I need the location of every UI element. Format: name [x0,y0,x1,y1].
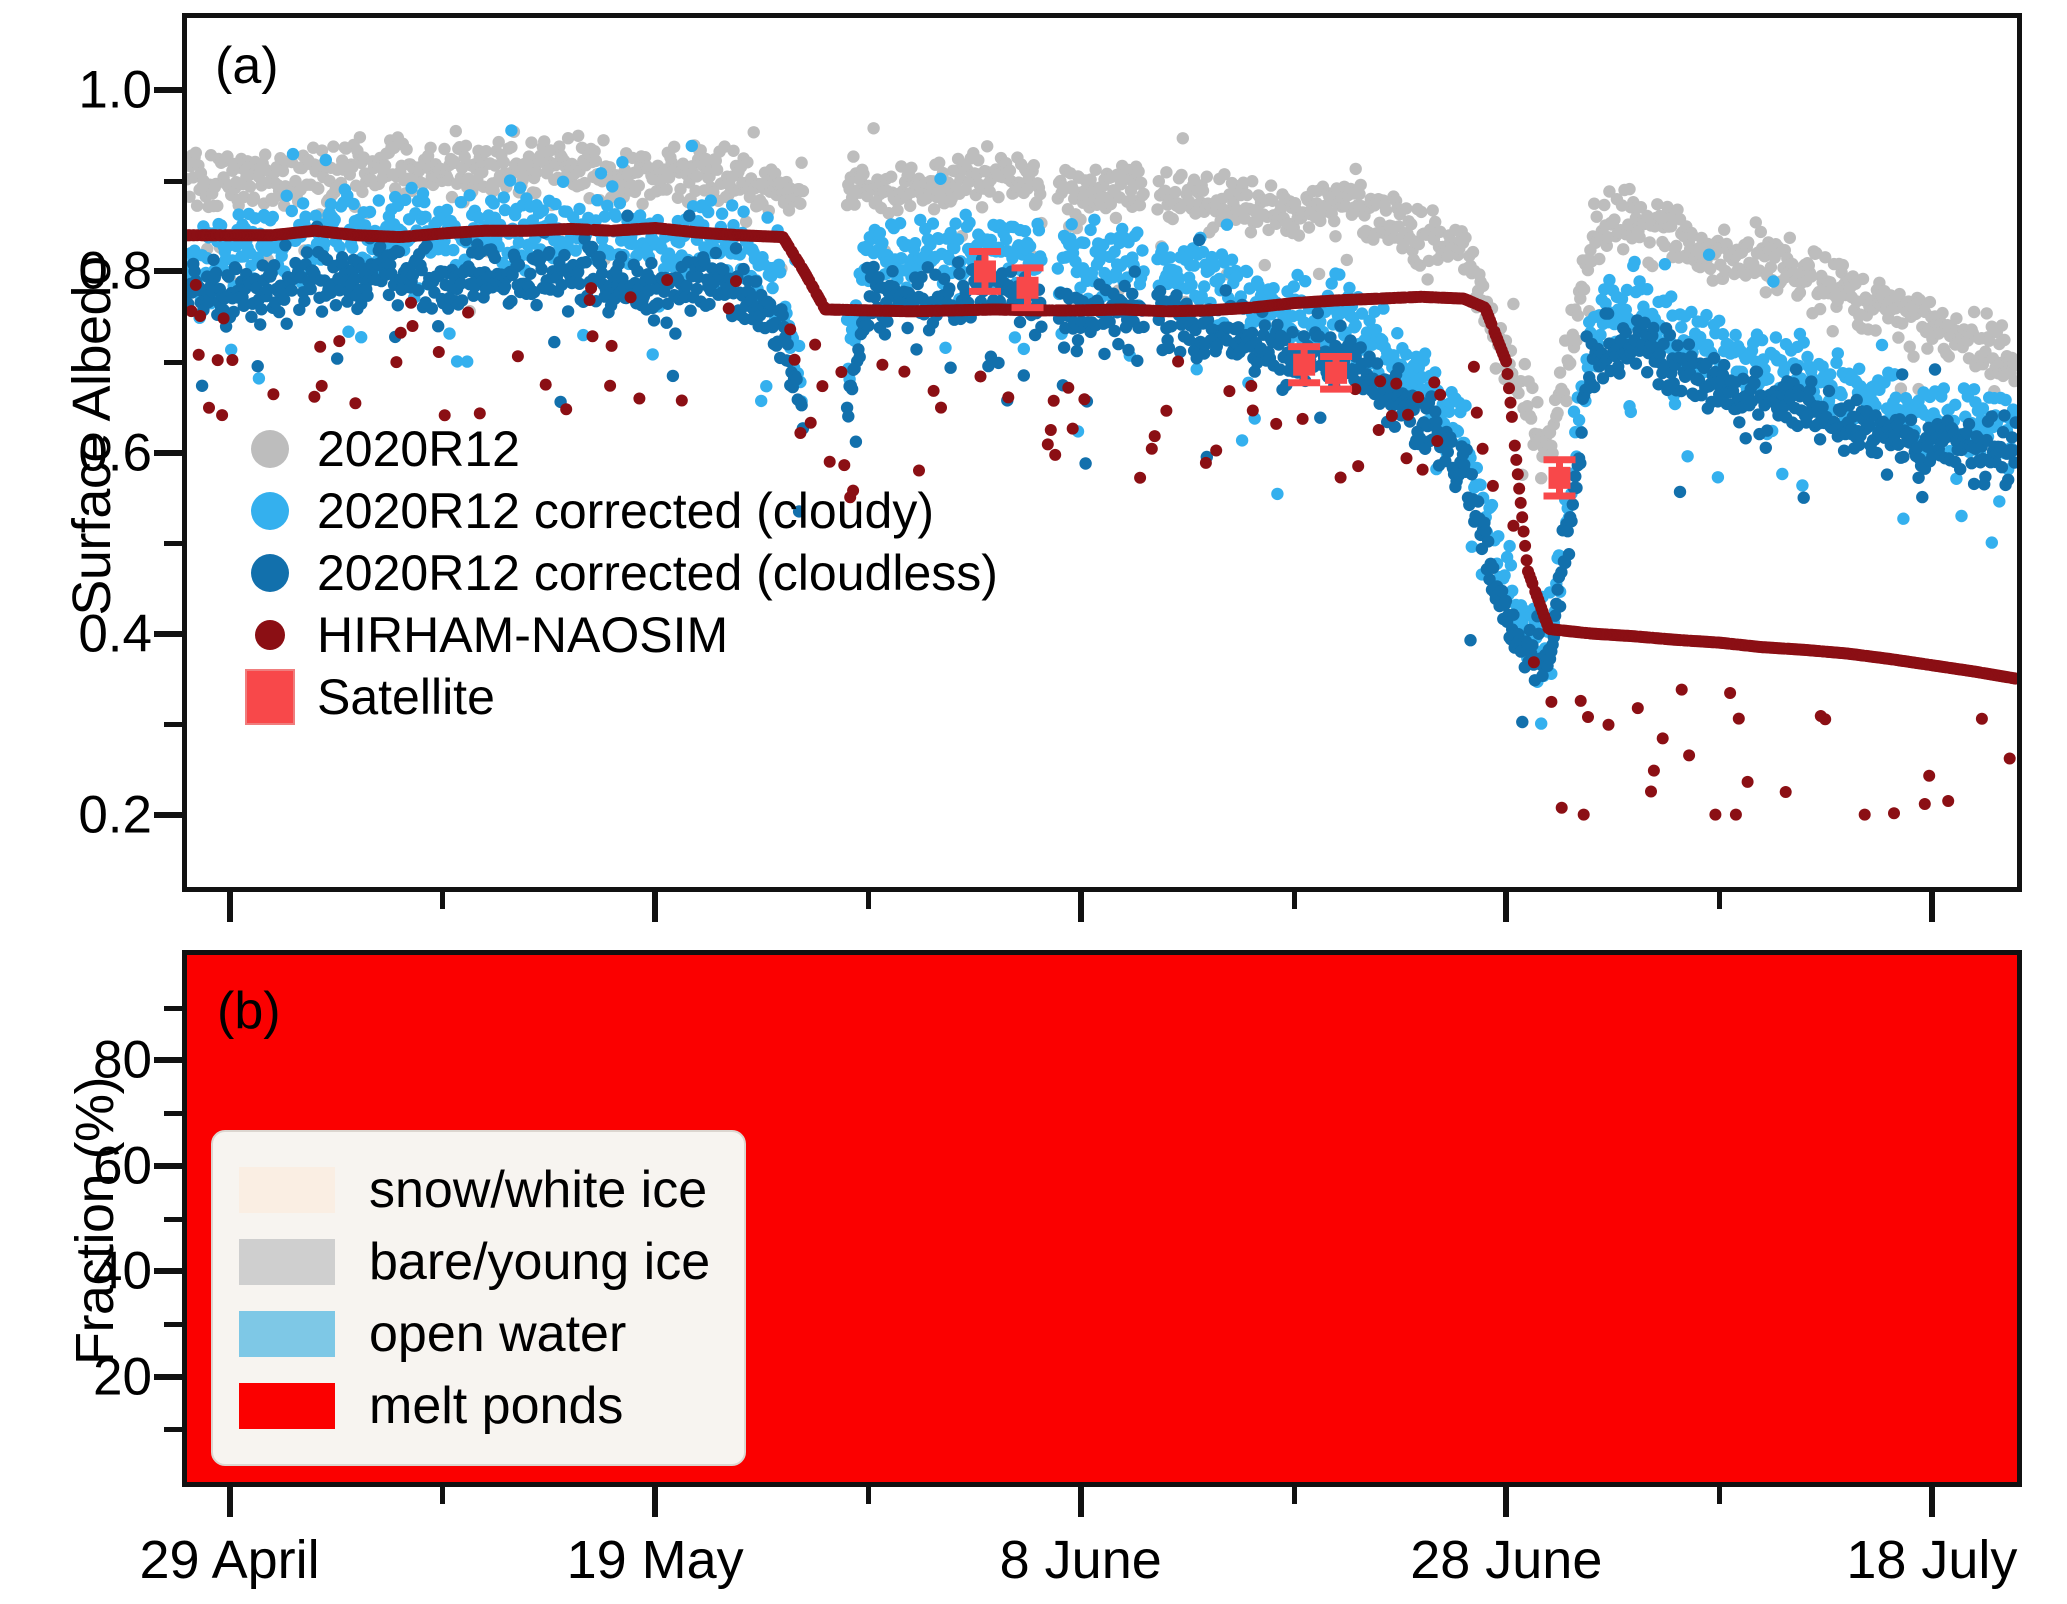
legend-label: Satellite [317,672,495,722]
legend-label: snow/white ice [369,1164,707,1216]
legend-swatch-square [245,669,295,725]
panel-b-ytick-minor-0 [164,1006,182,1011]
legend-swatch [239,1311,335,1357]
legend-swatch [239,1239,335,1285]
legend-item-1[interactable]: 2020R12 corrected (cloudy) [239,480,998,542]
panel-b-ytick-minor-4 [164,1427,182,1432]
legend-item-b-0[interactable]: snow/white ice [239,1154,710,1226]
panel-b-ytick-minor-1 [164,1111,182,1116]
xtick-label-2: 8 June [1000,1533,1162,1587]
legend-swatch [239,1383,335,1429]
panel-b-ytick-label-0: 80 [2,1034,152,1087]
xtick-minor-a-3 [1717,892,1722,909]
legend-label: 2020R12 corrected (cloudless) [317,548,998,598]
panel-a-ytick-label-1: 0.8 [2,245,152,298]
panel-a-ytick-label-2: 0.6 [2,426,152,479]
legend-swatch [239,1167,335,1213]
xtick-minor-b-0 [440,1487,445,1504]
figure-root: Surface Albedo Fraction (%) (a) 2020R122… [0,0,2067,1604]
xtick-major-a-3 [1503,892,1509,922]
xtick-major-b-4 [1929,1487,1935,1517]
panel-a-ytick-minor-2 [164,541,182,546]
panel-b-ytick-label-3: 20 [2,1350,152,1403]
xtick-major-b-2 [1078,1487,1084,1517]
panel-b-tag: (b) [217,985,281,1037]
panel-a-ytick-major-1 [154,268,182,274]
panel-a-ytick-label-3: 0.4 [2,607,152,660]
legend-label: bare/young ice [369,1236,710,1288]
legend-item-4[interactable]: Satellite [239,666,998,728]
panel-a-ytick-major-4 [154,812,182,818]
panel-b-ytick-label-2: 40 [2,1245,152,1298]
panel-a-ytick-minor-0 [164,179,182,184]
legend-label: 2020R12 [317,424,520,474]
panel-b-ytick-major-3 [154,1374,182,1380]
panel-b-ytick-minor-3 [164,1322,182,1327]
panel-a-ytick-major-0 [154,87,182,93]
panel-b-ytick-major-1 [154,1163,182,1169]
legend-item-2[interactable]: 2020R12 corrected (cloudless) [239,542,998,604]
panel-b-ytick-label-1: 60 [2,1139,152,1192]
panel-b-ytick-major-2 [154,1268,182,1274]
legend-item-b-2[interactable]: open water [239,1298,710,1370]
panel-a-ytick-label-0: 1.0 [2,64,152,117]
legend-label: 2020R12 corrected (cloudy) [317,486,934,536]
legend-marker-dot [251,430,289,468]
xtick-minor-a-2 [1292,892,1297,909]
xtick-minor-a-1 [866,892,871,909]
xtick-minor-b-1 [866,1487,871,1504]
xtick-label-0: 29 April [139,1533,319,1587]
xtick-major-b-1 [652,1487,658,1517]
xtick-label-1: 19 May [567,1533,744,1587]
xtick-minor-b-2 [1292,1487,1297,1504]
legend-item-b-3[interactable]: melt ponds [239,1370,710,1442]
xtick-major-a-1 [652,892,658,922]
panel-b-ytick-major-0 [154,1057,182,1063]
legend-marker-dot [251,492,289,530]
legend-marker-dot [251,554,289,592]
panel-a-legend: 2020R122020R12 corrected (cloudy)2020R12… [239,418,998,728]
xtick-minor-b-3 [1717,1487,1722,1504]
panel-a-ytick-minor-3 [164,722,182,727]
xtick-label-4: 18 July [1846,1533,2017,1587]
xtick-major-b-0 [227,1487,233,1517]
legend-item-3[interactable]: HIRHAM-NAOSIM [239,604,998,666]
panel-a-ytick-major-2 [154,450,182,456]
legend-item-0[interactable]: 2020R12 [239,418,998,480]
panel-a-ytick-label-4: 0.2 [2,788,152,841]
xtick-major-a-2 [1078,892,1084,922]
panel-a-tag: (a) [215,40,279,92]
legend-label: open water [369,1308,626,1360]
xtick-minor-a-0 [440,892,445,909]
panel-a-ytick-major-3 [154,631,182,637]
panel-b-ytick-minor-2 [164,1217,182,1222]
xtick-major-a-4 [1929,892,1935,922]
legend-label: HIRHAM-NAOSIM [317,610,728,660]
legend-label: melt ponds [369,1380,623,1432]
legend-marker-dot [255,620,285,650]
xtick-major-a-0 [227,892,233,922]
xtick-major-b-3 [1503,1487,1509,1517]
xtick-label-3: 28 June [1410,1533,1602,1587]
panel-a-ytick-minor-1 [164,360,182,365]
panel-b-legend: snow/white icebare/young iceopen waterme… [211,1130,746,1466]
legend-item-b-1[interactable]: bare/young ice [239,1226,710,1298]
